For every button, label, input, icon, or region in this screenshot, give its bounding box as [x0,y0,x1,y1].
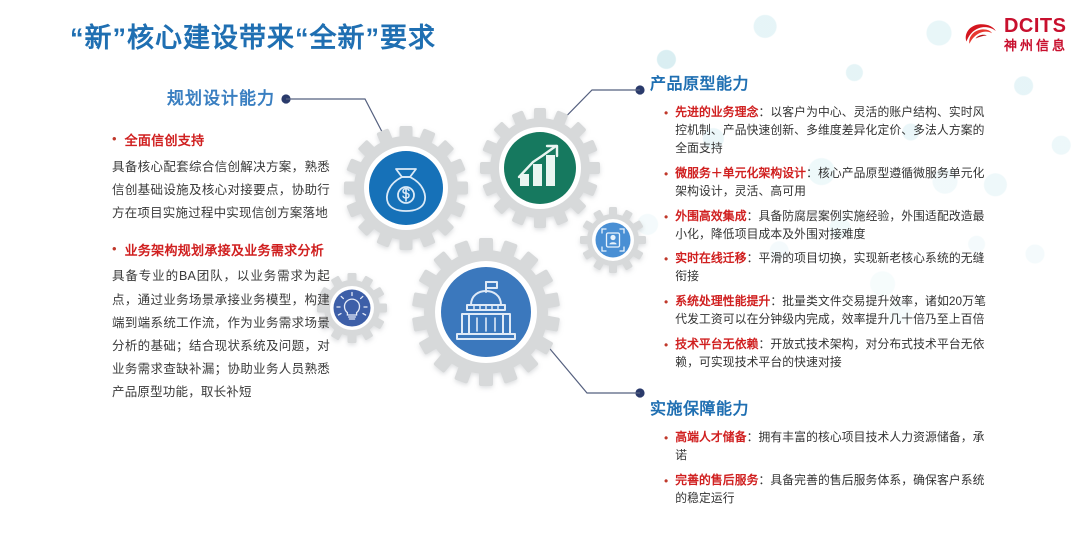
left-item-1-title-row: • 业务架构规划承接及业务需求分析 [112,241,330,261]
left-item-1-title: 业务架构规划承接及业务需求分析 [125,241,325,261]
right-group-1-heading: 实施保障能力 [650,395,990,419]
left-item-0-title: 全面信创支持 [125,131,205,151]
page-title: “新”核心建设带来“全新”要求 [70,16,436,55]
money-bag-gear [344,126,468,250]
bank-building-gear [412,238,560,386]
list-item: • 高端人才储备：拥有丰富的核心项目技术人力资源储备，承诺 [664,429,990,465]
right-group-0-item-3: 实时在线迁移：平滑的项目切换，实现新老核心系统的无缝衔接 [675,250,990,286]
id-badge-gear [580,207,646,273]
right-group-1-item-0: 高端人才储备：拥有丰富的核心项目技术人力资源储备，承诺 [675,429,990,465]
slide-root: “新”核心建设带来“全新”要求 DCITS 神州信息 [0,0,1080,540]
item-lead: 高端人才储备 [675,430,746,444]
left-item-1-body: 具备专业的BA团队，以业务需求为起点，通过业务场景承接业务模型，构建端到端系统工… [112,265,330,404]
bullet-dot-icon: • [664,104,668,158]
right-group-1-item-1: 完善的售后服务：具备完善的售后服务体系，确保客户系统的稳定运行 [675,472,990,508]
left-item-1: • 业务架构规划承接及业务需求分析 具备专业的BA团队，以业务需求为起点，通过业… [112,241,330,404]
gear-cluster [300,70,660,420]
group-spacer [650,379,990,395]
right-group-0-item-1: 微服务＋单元化架构设计：核心产品原型遵循微服务单元化架构设计，灵活、高可用 [675,165,990,201]
bullet-dot-icon: • [664,165,668,201]
list-item: • 外围高效集成：具备防腐层案例实施经验，外围适配改造最小化，降低项目成本及外围… [664,208,990,244]
right-column: 产品原型能力 • 先进的业务理念：以客户为中心、灵活的账户结构、实时风控机制、产… [650,70,990,515]
left-item-0-body: 具备核心配套综合信创解决方案，熟悉信创基础设施及核心对接要点，协助行方在项目实施… [112,156,330,225]
left-column-heading: 规划设计能力 [112,84,330,109]
item-lead: 外围高效集成 [675,209,746,223]
swoosh-logo-icon [962,19,998,49]
right-group-0-item-0: 先进的业务理念：以客户为中心、灵活的账户结构、实时风控机制、产品快速创新、多维度… [675,104,990,158]
right-group-0-item-2: 外围高效集成：具备防腐层案例实施经验，外围适配改造最小化，降低项目成本及外围对接… [675,208,990,244]
bullet-dot-icon: • [664,336,668,372]
brand-logo: DCITS 神州信息 [962,16,1068,52]
item-lead: 系统处理性能提升 [675,294,770,308]
bullet-dot-icon: • [664,429,668,465]
logo-text-cn: 神州信息 [1004,39,1068,52]
left-column: 规划设计能力 • 全面信创支持 具备核心配套综合信创解决方案，熟悉信创基础设施及… [112,84,330,420]
left-item-0-title-row: • 全面信创支持 [112,131,330,151]
bullet-dot-icon: • [664,472,668,508]
list-item: • 微服务＋单元化架构设计：核心产品原型遵循微服务单元化架构设计，灵活、高可用 [664,165,990,201]
logo-text-en: DCITS [1004,16,1068,36]
list-item: • 实时在线迁移：平滑的项目切换，实现新老核心系统的无缝衔接 [664,250,990,286]
right-group-0-item-5: 技术平台无依赖：开放式技术架构，对分布式技术平台无依赖，可实现技术平台的快速对接 [675,336,990,372]
item-lead: 完善的售后服务 [675,473,758,487]
growth-chart-gear [480,108,600,228]
item-lead: 微服务＋单元化架构设计 [675,166,806,180]
right-group-0-heading: 产品原型能力 [650,70,990,94]
right-group-1: 实施保障能力 • 高端人才储备：拥有丰富的核心项目技术人力资源储备，承诺 • 完… [650,395,990,508]
left-item-0: • 全面信创支持 具备核心配套综合信创解决方案，熟悉信创基础设施及核心对接要点，… [112,131,330,225]
list-item: • 技术平台无依赖：开放式技术架构，对分布式技术平台无依赖，可实现技术平台的快速… [664,336,990,372]
right-group-0-item-4: 系统处理性能提升：批量类文件交易提升效率，诸如20万笔代发工资可以在分钟级内完成… [675,293,990,329]
right-group-1-list: • 高端人才储备：拥有丰富的核心项目技术人力资源储备，承诺 • 完善的售后服务：… [664,429,990,508]
list-item: • 系统处理性能提升：批量类文件交易提升效率，诸如20万笔代发工资可以在分钟级内… [664,293,990,329]
bullet-dot-icon: • [112,131,117,151]
bullet-dot-icon: • [664,250,668,286]
bullet-dot-icon: • [664,293,668,329]
right-group-0-list: • 先进的业务理念：以客户为中心、灵活的账户结构、实时风控机制、产品快速创新、多… [664,104,990,372]
bullet-dot-icon: • [112,241,117,261]
list-item: • 先进的业务理念：以客户为中心、灵活的账户结构、实时风控机制、产品快速创新、多… [664,104,990,158]
item-lead: 实时在线迁移 [675,251,746,265]
item-lead: 技术平台无依赖 [675,337,758,351]
bullet-dot-icon: • [664,208,668,244]
gear-illustration [300,70,660,420]
item-lead: 先进的业务理念 [675,105,758,119]
right-group-0: 产品原型能力 • 先进的业务理念：以客户为中心、灵活的账户结构、实时风控机制、产… [650,70,990,372]
list-item: • 完善的售后服务：具备完善的售后服务体系，确保客户系统的稳定运行 [664,472,990,508]
